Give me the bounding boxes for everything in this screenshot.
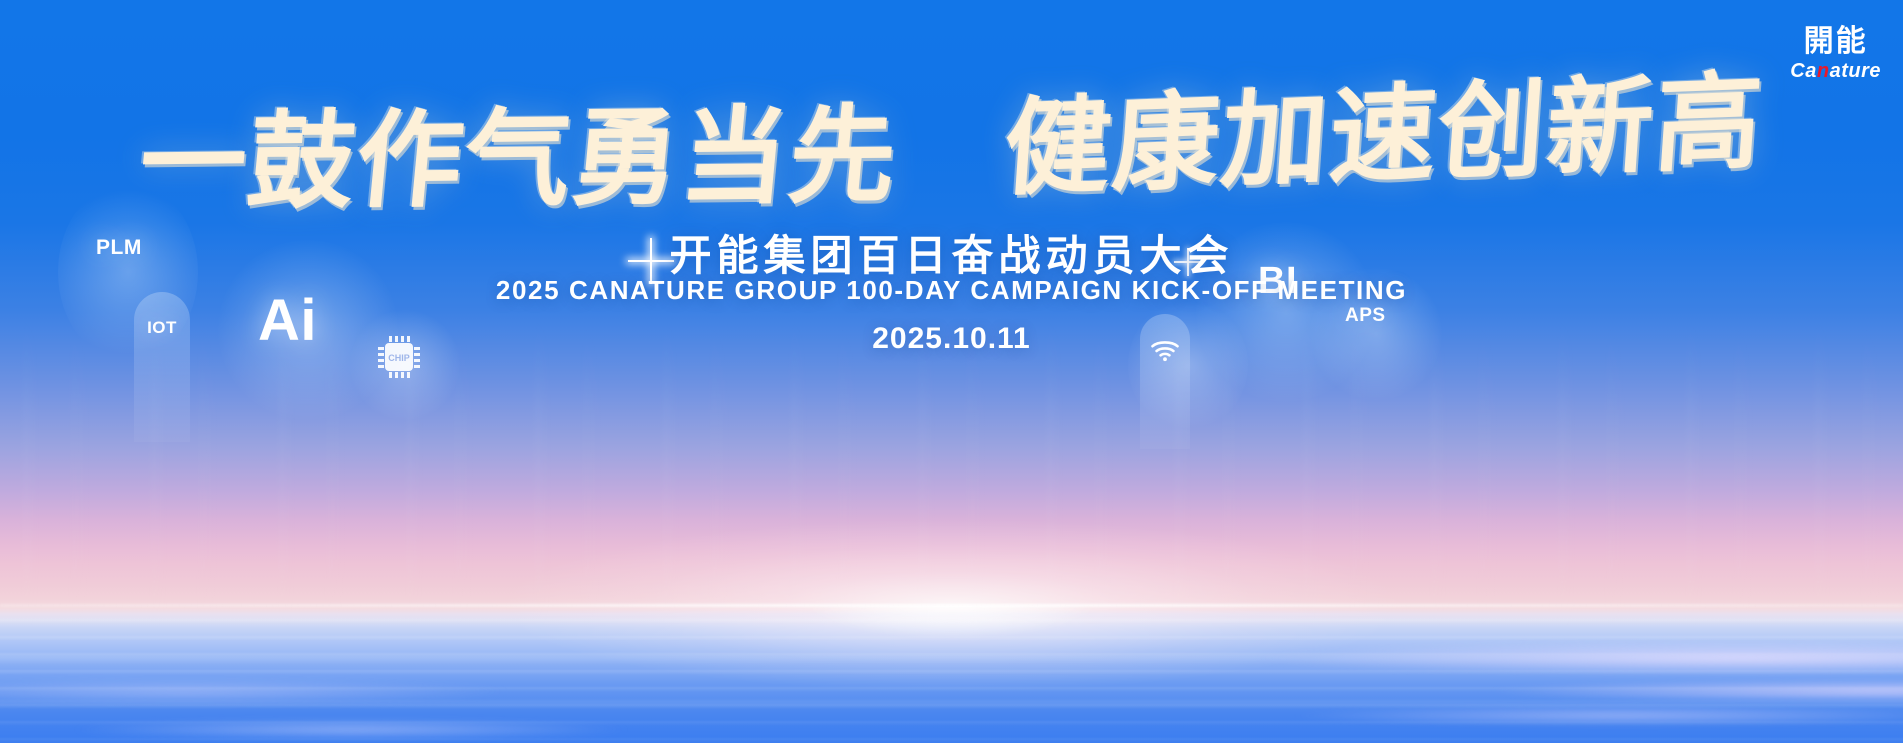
logo-en-post: ature xyxy=(1830,60,1881,82)
water-center-reflection xyxy=(742,606,1162,690)
logo-en-accent: n xyxy=(1817,60,1830,82)
headline-phrase-2: 健康加速创新高 xyxy=(1000,61,1767,209)
banner-stage: PLM IOT Ai CHIP xyxy=(0,0,1903,743)
subtitle-chinese: 开能集团百日奋战动员大会 xyxy=(0,222,1903,283)
canature-logo: 開能 Canature xyxy=(1790,26,1881,82)
water-surface xyxy=(0,606,1903,743)
water-shimmer-left xyxy=(0,631,640,743)
subtitle-english: 2025 CANATURE GROUP 100-DAY CAMPAIGN KIC… xyxy=(0,275,1903,306)
tech-pill-iot: IOT xyxy=(134,292,190,442)
headline-gap xyxy=(927,182,971,183)
logo-english-name: Canature xyxy=(1790,60,1881,82)
light-streaks-overlay xyxy=(0,312,1903,639)
logo-en-pre: Ca xyxy=(1790,60,1817,82)
event-date: 2025.10.11 xyxy=(0,322,1903,356)
logo-chinese-name: 開能 xyxy=(1790,26,1881,58)
headline-phrase-1: 一鼓作气勇当先 xyxy=(135,95,904,223)
